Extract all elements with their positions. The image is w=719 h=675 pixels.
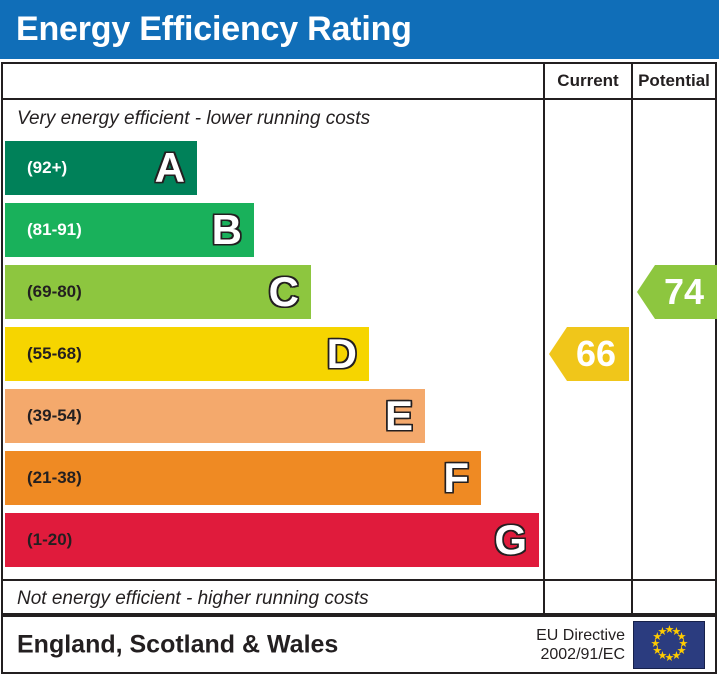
band-letter-label: G [494, 519, 527, 561]
table-header-row: Current Potential [3, 64, 715, 100]
footer-directive-line1: EU Directive [536, 626, 625, 645]
band-letter-label: A [155, 147, 185, 189]
band-range-label: (69-80) [27, 282, 82, 302]
band-range-label: (55-68) [27, 344, 82, 364]
eu-flag-icon: ★★★★★★★★★★★★ [633, 621, 705, 669]
column-header-potential: Potential [633, 64, 715, 98]
current-rating-value: 66 [562, 336, 616, 372]
energy-efficiency-rating-chart: Energy Efficiency Rating Current Potenti… [0, 0, 719, 675]
column-divider-current [543, 64, 545, 613]
band-range-label: (1-20) [27, 530, 72, 550]
band-a: (92+)A [5, 141, 197, 195]
caption-very-efficient: Very energy efficient - lower running co… [17, 108, 370, 130]
caption-divider-bottom [3, 579, 715, 581]
band-range-label: (21-38) [27, 468, 82, 488]
column-divider-potential [631, 64, 633, 613]
band-letter-label: C [269, 271, 299, 313]
column-header-current: Current [545, 64, 631, 98]
footer-region-label: England, Scotland & Wales [17, 630, 338, 659]
footer-directive: EU Directive 2002/91/EC [536, 626, 625, 664]
band-range-label: (39-54) [27, 406, 82, 426]
band-range-label: (81-91) [27, 220, 82, 240]
chart-title-bar: Energy Efficiency Rating [0, 0, 719, 59]
eu-flag-star: ★ [658, 628, 667, 637]
band-g: (1-20)G [5, 513, 539, 567]
potential-rating-arrow: 74 [637, 265, 717, 319]
current-rating-arrow: 66 [549, 327, 629, 381]
caption-not-efficient: Not energy efficient - higher running co… [17, 588, 369, 610]
footer-bar: England, Scotland & Wales EU Directive 2… [1, 615, 717, 674]
footer-directive-line2: 2002/91/EC [536, 645, 625, 664]
band-c: (69-80)C [5, 265, 311, 319]
band-letter-label: E [385, 395, 413, 437]
rating-table: Current Potential Very energy efficient … [1, 62, 717, 615]
band-letter-label: B [212, 209, 242, 251]
band-d: (55-68)D [5, 327, 369, 381]
band-letter-label: F [443, 457, 469, 499]
band-range-label: (92+) [27, 158, 67, 178]
band-b: (81-91)B [5, 203, 254, 257]
band-e: (39-54)E [5, 389, 425, 443]
band-letter-label: D [327, 333, 357, 375]
page-title: Energy Efficiency Rating [16, 6, 412, 52]
potential-rating-value: 74 [650, 274, 704, 310]
band-f: (21-38)F [5, 451, 481, 505]
